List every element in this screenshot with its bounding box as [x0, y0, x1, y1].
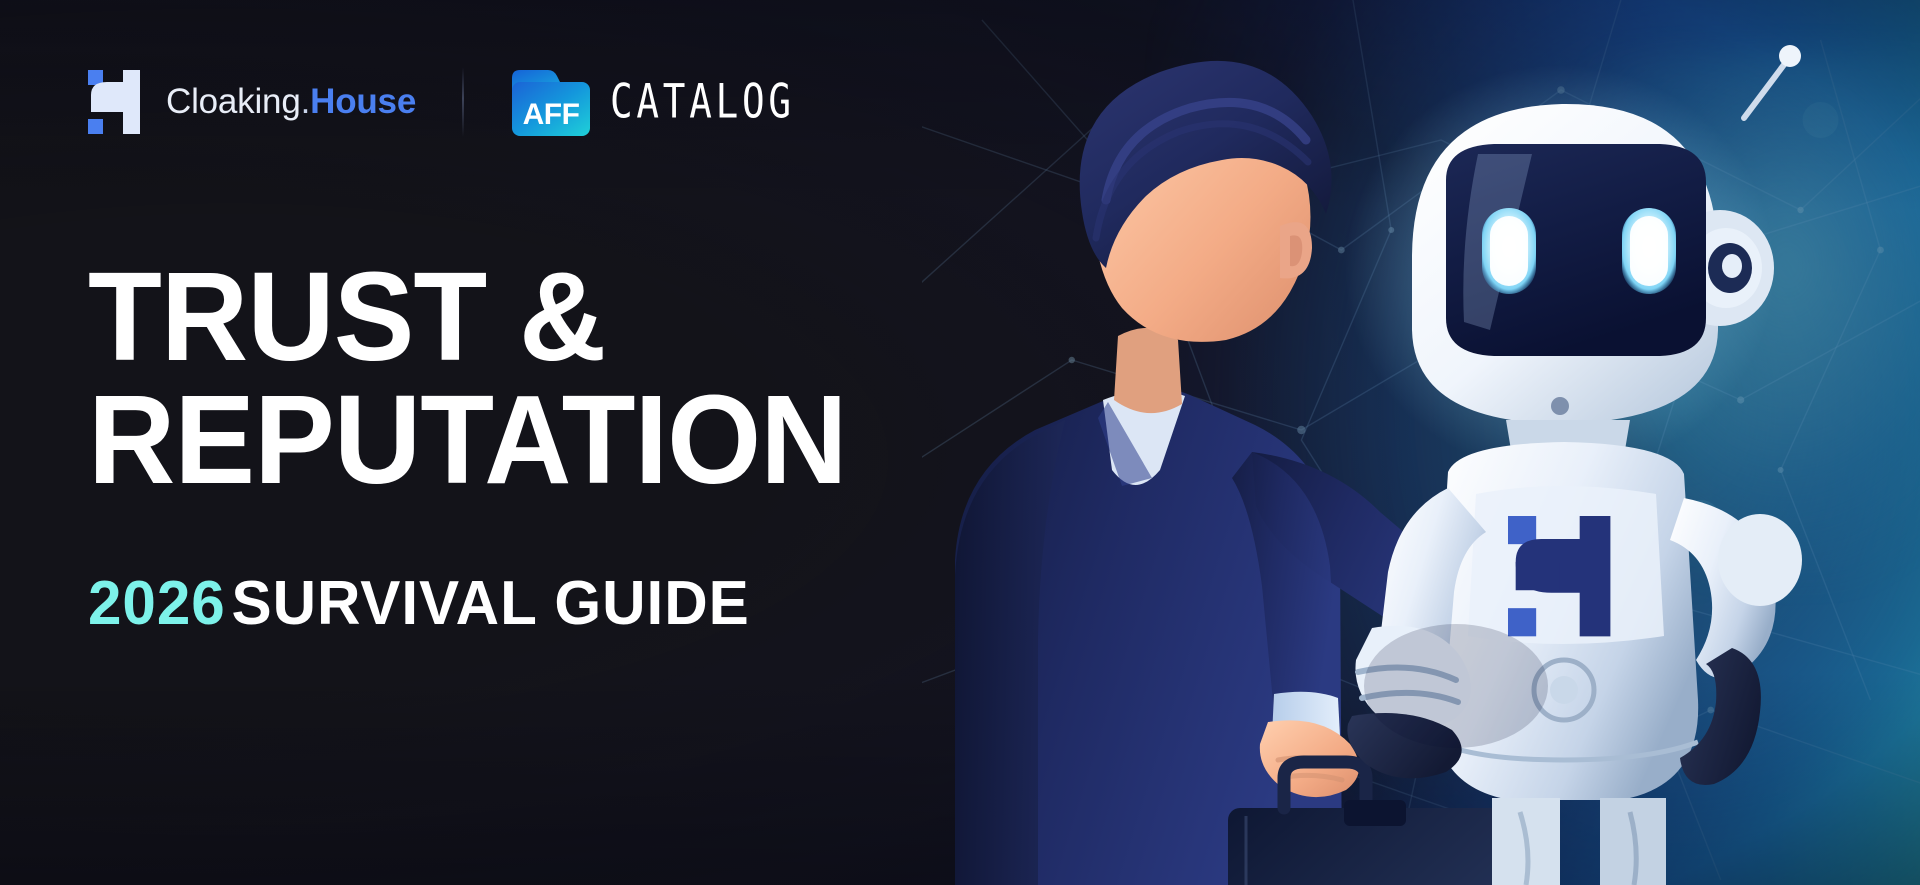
brand-wordmark: Cloaking.House	[166, 82, 416, 122]
promo-banner: Cloaking.House	[0, 0, 1920, 885]
brand-cloaking-house[interactable]: Cloaking.House	[88, 70, 462, 134]
headline: TRUST & REPUTATION	[88, 258, 900, 498]
svg-text:AFF: AFF	[523, 98, 580, 131]
subheadline: 2026SURVIVAL GUIDE	[88, 568, 876, 639]
brand-name-part1: Cloaking	[166, 82, 301, 121]
subheadline-text: SURVIVAL GUIDE	[231, 569, 749, 638]
subheadline-year: 2026	[88, 569, 226, 638]
banner-content: Cloaking.House	[0, 0, 900, 885]
brand-name-part2: House	[310, 82, 416, 121]
headline-line-1: TRUST &	[88, 258, 868, 375]
headline-line-2: REPUTATION	[88, 381, 868, 498]
logo-bar: Cloaking.House	[88, 64, 900, 140]
cloaking-house-logo-mark	[88, 70, 146, 134]
partner-aff-catalog[interactable]: AFF CATALOG	[464, 68, 807, 136]
background-cyan-glow	[1555, 53, 1920, 584]
aff-folder-icon: AFF	[510, 68, 592, 136]
partner-wordmark: CATALOG	[610, 75, 795, 129]
brand-name-dot: .	[301, 82, 311, 121]
